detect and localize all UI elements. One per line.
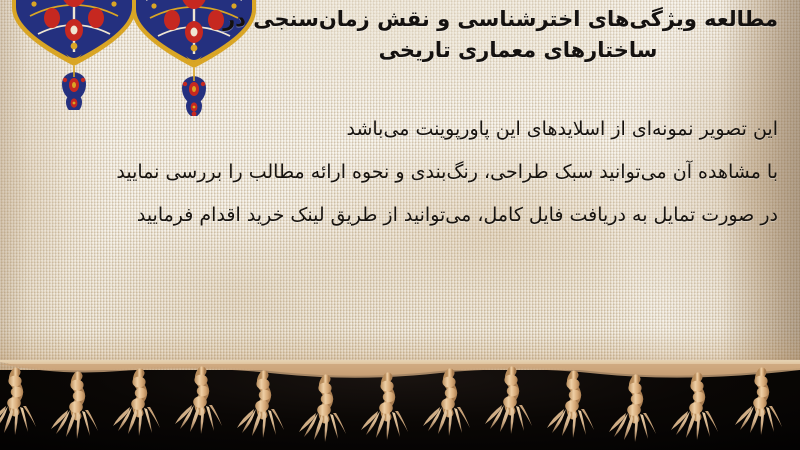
body-line-3: در صورت تمایل به دریافت فایل کامل، می‌تو… (18, 194, 778, 237)
body-line-2: با مشاهده آن می‌توانید سبک طراحی، رنگ‌بن… (18, 151, 778, 194)
body-line-1: این تصویر نمونه‌ای از اسلایدهای این پاور… (18, 108, 778, 151)
slide-title: مطالعه ویژگی‌های اخترشناسی و نقش زمان‌سن… (258, 4, 778, 66)
slide-body: این تصویر نمونه‌ای از اسلایدهای این پاور… (18, 108, 778, 237)
persian-medallion-ornament-left (8, 0, 140, 110)
title-line-2: ساختارهای معماری تاریخی (258, 35, 778, 66)
presentation-slide: مطالعه ویژگی‌های اخترشناسی و نقش زمان‌سن… (0, 0, 800, 450)
title-line-1: مطالعه ویژگی‌های اخترشناسی و نقش زمان‌سن… (258, 4, 778, 35)
black-backdrop (0, 370, 800, 450)
